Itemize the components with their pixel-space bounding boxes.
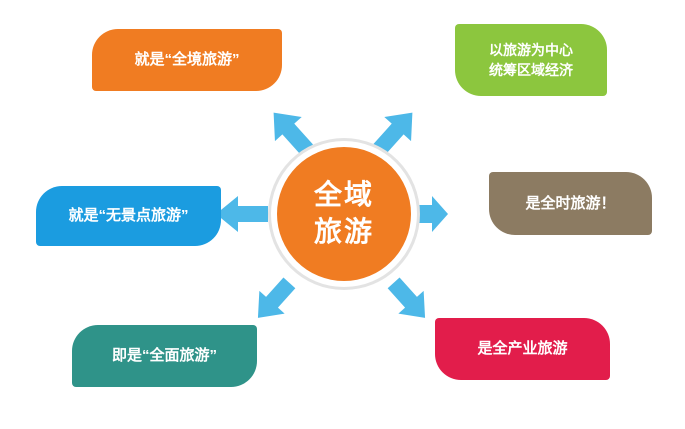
arrow-down-left-icon <box>248 272 300 328</box>
center-node-line2: 旅游 <box>314 214 374 251</box>
arrow-up-left-icon <box>268 104 314 160</box>
arrow-up-right-icon <box>372 104 418 160</box>
arrow-down-right-icon <box>383 272 435 328</box>
node-chanye[interactable]: 是全产业旅游 <box>435 318 610 380</box>
node-quanshi[interactable]: 是全时旅游！ <box>489 172 652 235</box>
diagram-canvas: 全域 旅游 就是“全境旅游” 以旅游为中心 统筹区域经济 就是“无景点旅游” 是… <box>0 0 685 429</box>
node-quanmian-label: 即是“全面旅游” <box>112 345 217 367</box>
node-wujingdian[interactable]: 就是“无景点旅游” <box>36 186 221 246</box>
node-quanjing[interactable]: 就是“全境旅游” <box>92 29 282 91</box>
node-yilvyou-line1: 以旅游为中心 <box>489 40 573 60</box>
node-yilvyou[interactable]: 以旅游为中心 统筹区域经济 <box>455 24 607 96</box>
node-quanjing-label: 就是“全境旅游” <box>134 49 239 71</box>
node-quanmian[interactable]: 即是“全面旅游” <box>72 325 257 387</box>
arrow-right-icon <box>418 194 476 234</box>
center-node-line1: 全域 <box>314 177 374 214</box>
node-chanye-label: 是全产业旅游 <box>477 338 567 360</box>
node-wujingdian-label: 就是“无景点旅游” <box>68 205 188 227</box>
arrow-left-icon <box>214 192 272 236</box>
node-quanshi-label: 是全时旅游！ <box>525 193 615 215</box>
node-yilvyou-line2: 统筹区域经济 <box>489 60 573 80</box>
center-node: 全域 旅游 <box>277 147 411 281</box>
